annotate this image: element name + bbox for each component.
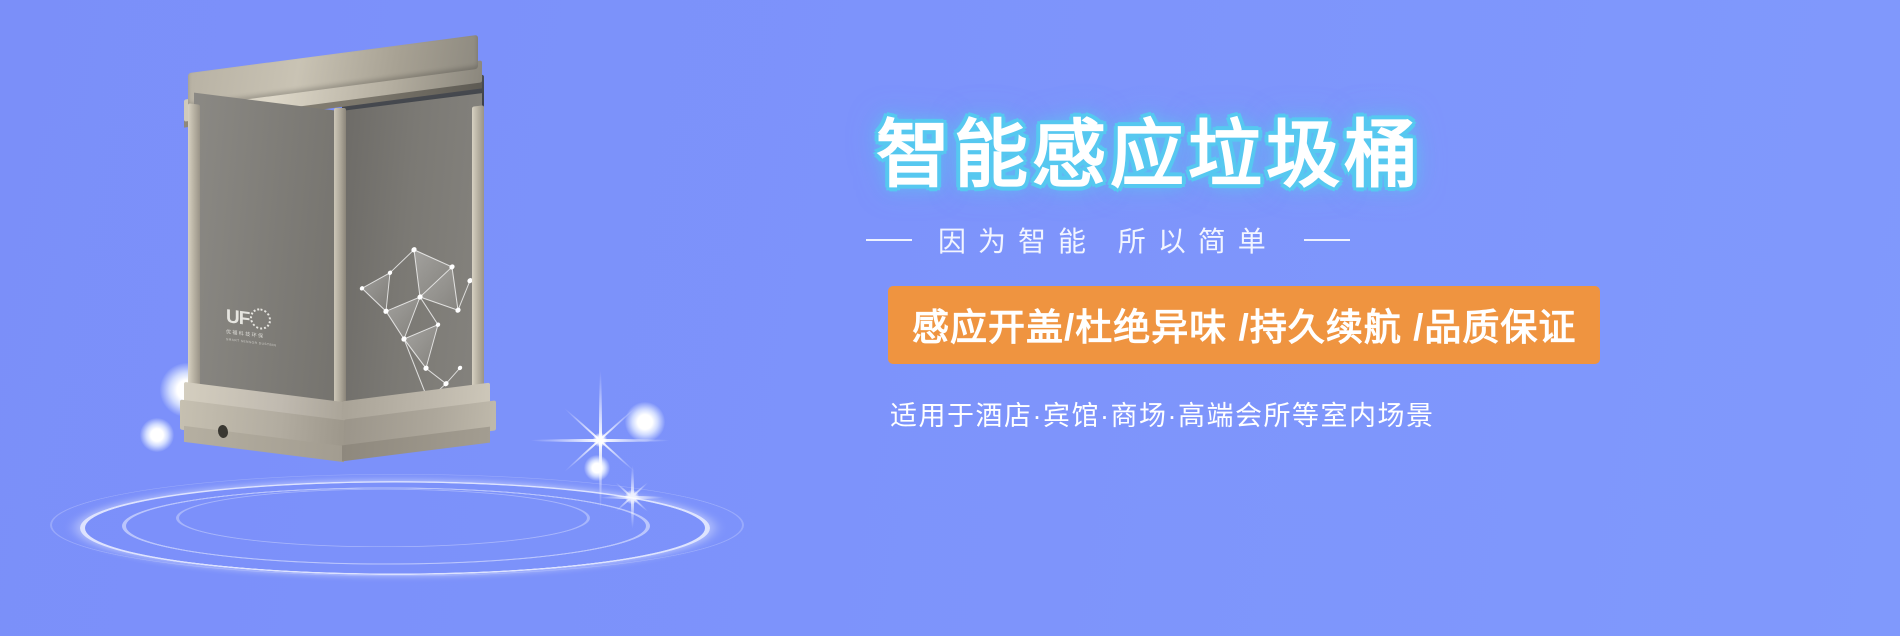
page-title: 智能感应垃圾桶	[876, 118, 1828, 192]
sparkle-star-icon	[600, 465, 664, 529]
bin-body-left-face	[194, 93, 342, 422]
dash-right-icon	[1304, 239, 1350, 241]
marketing-copy-block: 智能感应垃圾桶 因为智能 所以简单 感应开盖/杜绝异味 /持久续航 /品质保证 …	[888, 118, 1828, 433]
logo-wordmark: UF	[226, 306, 249, 330]
promo-banner: UF 优福科技环保 SMART SENSOR DUSTBIN 智能感应垃圾桶 因…	[0, 0, 1900, 636]
bin-body-right-face	[342, 93, 482, 433]
tagline: 因为智能 所以简单	[866, 220, 1828, 260]
dash-left-icon	[866, 239, 912, 241]
brand-logo: UF 优福科技环保 SMART SENSOR DUSTBIN	[226, 304, 288, 354]
bin-corner-post	[188, 103, 200, 405]
logo-ring-icon	[250, 307, 271, 331]
feature-highlight-strip: 感应开盖/杜绝异味 /持久续航 /品质保证	[888, 286, 1600, 364]
bin-corner-post	[472, 105, 484, 405]
usage-scenarios-text: 适用于酒店·宾馆·商场·高端会所等室内场景	[890, 394, 1828, 433]
sensor-port-icon	[218, 424, 228, 438]
network-pattern-icon	[342, 93, 482, 433]
product-scene: UF 优福科技环保 SMART SENSOR DUSTBIN	[60, 40, 780, 560]
bin-corner-post	[334, 108, 346, 426]
product-image-smart-bin: UF 优福科技环保 SMART SENSOR DUSTBIN	[170, 40, 500, 460]
tagline-text: 因为智能 所以简单	[912, 220, 1304, 260]
glow-orb-icon	[140, 418, 174, 452]
ripple-ring-inner	[176, 489, 590, 547]
